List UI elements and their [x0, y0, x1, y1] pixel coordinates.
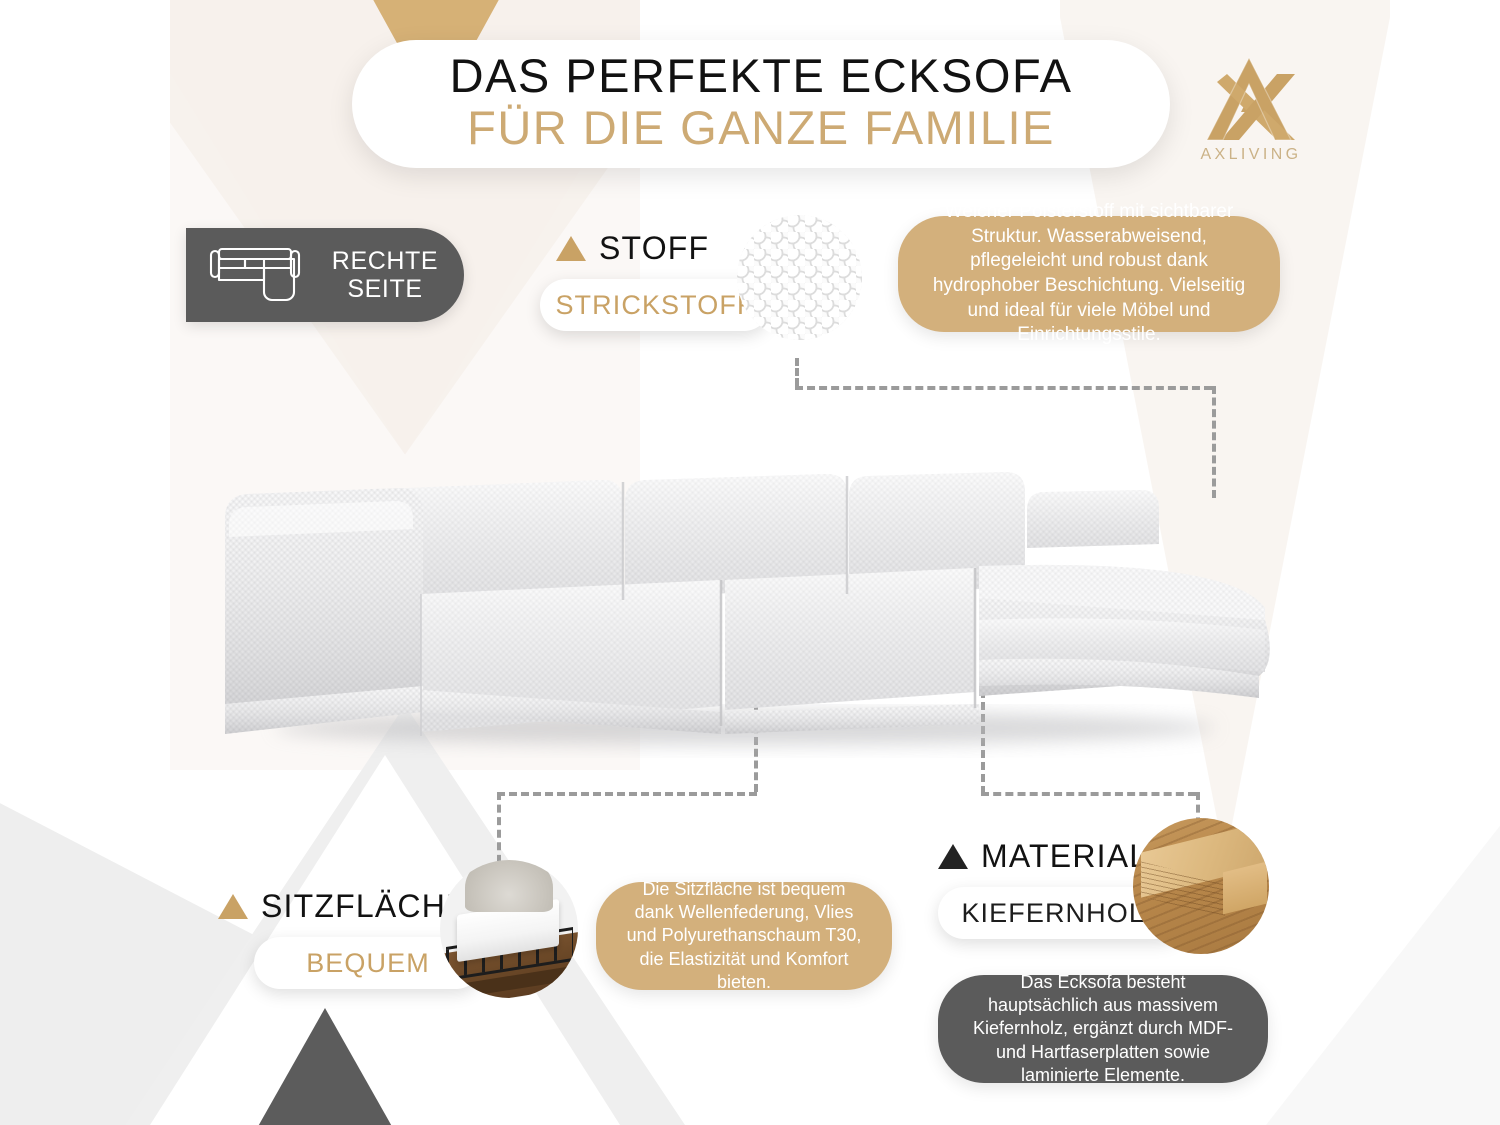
page-title-secondary: FÜR DIE GANZE FAMILIE [467, 100, 1055, 155]
side-orientation-line1: RECHTE [332, 247, 438, 275]
bullet-triangle-icon [218, 894, 248, 919]
section-material-description: Das Ecksofa besteht hauptsächlich aus ma… [938, 975, 1268, 1083]
product-sofa-image [205, 398, 1305, 758]
section-material-title: MATERIAL [981, 838, 1148, 875]
infographic-canvas: DAS PERFEKTE ECKSOFA FÜR DIE GANZE FAMIL… [0, 0, 1500, 1125]
page-title-primary: DAS PERFEKTE ECKSOFA [450, 52, 1073, 100]
bullet-triangle-icon [938, 844, 968, 869]
knit-fabric-texture [737, 215, 862, 340]
header-title-card: DAS PERFEKTE ECKSOFA FÜR DIE GANZE FAMIL… [352, 40, 1170, 168]
brand-logo: AXLIVING [1192, 56, 1310, 168]
knit-fabric-swatch [737, 215, 862, 340]
section-stoff-chip[interactable]: STRICKSTOFF [540, 279, 770, 331]
corner-sofa-outline-icon [208, 246, 304, 304]
section-sitzflaeche-title: SITZFLÄCHE [261, 888, 469, 925]
background-dark-triangle-bottom [256, 1008, 394, 1125]
section-sitzflaeche-description: Die Sitzfläche ist bequem dank Wellenfed… [596, 882, 892, 990]
axliving-monogram-icon [1199, 56, 1303, 144]
side-orientation-line2: SEITE [347, 275, 422, 303]
foam-wave-spring-swatch [440, 860, 578, 998]
brand-name-label: AXLIVING [1200, 146, 1301, 164]
section-stoff-title: STOFF [599, 230, 709, 267]
fleece-layer [465, 860, 553, 912]
foam-construction-photo [440, 860, 578, 998]
connector-stoff-h [795, 386, 1212, 390]
bullet-triangle-icon [556, 236, 586, 261]
side-orientation-label: RECHTE SEITE [320, 247, 464, 303]
connector-stoff-v1 [795, 358, 799, 386]
side-orientation-badge: RECHTE SEITE [186, 228, 464, 322]
connector-material-h [981, 792, 1196, 796]
pine-wood-block-swatch [1133, 818, 1269, 954]
connector-seat-h [497, 792, 757, 796]
section-stoff-description: Weicher Polsterstoff mit sichtbarer Stru… [898, 216, 1280, 332]
pine-wood-photo [1133, 818, 1269, 954]
background-wedge-bottom-right [1240, 760, 1500, 1125]
